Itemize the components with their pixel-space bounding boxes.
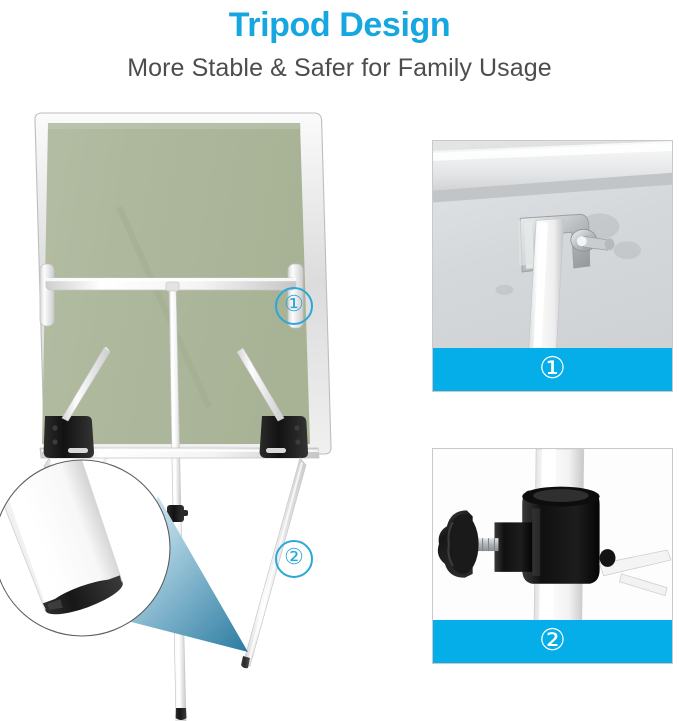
- hero-product-photo: ① ② ③: [0, 96, 425, 721]
- detail-caption-bar-2: ②: [433, 620, 672, 663]
- tripod-easel-illustration: [0, 96, 425, 721]
- header: Tripod Design More Stable & Safer for Fa…: [0, 0, 679, 96]
- page-title: Tripod Design: [0, 4, 679, 46]
- detail-panel-collar-clamp: ②: [432, 448, 673, 664]
- detail-caption-number-1: ①: [539, 354, 566, 384]
- centre-leg-foot: [176, 708, 187, 720]
- collar-body: [522, 487, 599, 584]
- detail-panel-pole-bracket: ①: [432, 140, 673, 392]
- corner-bracket-right: [260, 416, 308, 458]
- corner-bracket-left: [44, 416, 94, 458]
- hero-marker-2: ②: [275, 540, 313, 578]
- detail-caption-bar-1: ①: [433, 348, 672, 391]
- detail-caption-number-2: ②: [539, 626, 566, 656]
- hero-marker-1: ①: [275, 287, 313, 325]
- page-subtitle: More Stable & Safer for Family Usage: [0, 52, 679, 84]
